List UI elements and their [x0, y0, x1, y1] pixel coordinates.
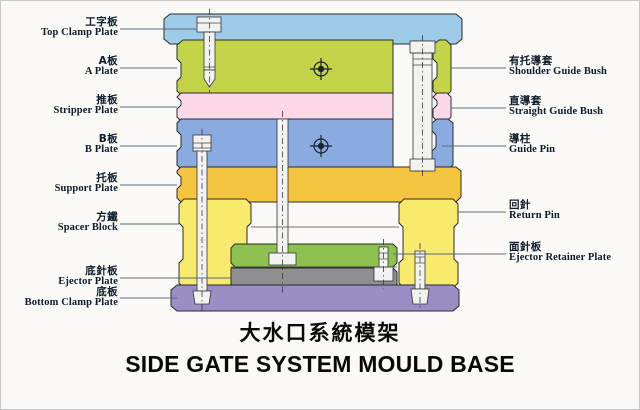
label-en: Support Plate	[1, 184, 118, 195]
label-a-plate: A板 A Plate	[1, 56, 118, 77]
label-b-plate: B板 B Plate	[1, 134, 118, 155]
label-ejector-plate: 底針板 Ejector Plate	[1, 266, 118, 287]
label-en: Return Pin	[509, 211, 560, 222]
label-en: B Plate	[1, 145, 118, 156]
label-en: Shoulder Guide Bush	[509, 67, 607, 78]
label-spacer-block: 方鐵 Spacer Block	[1, 212, 118, 233]
label-en: Top Clamp Plate	[1, 28, 118, 39]
label-en: Ejector Retainer Plate	[509, 253, 611, 264]
label-return-pin: 回針 Return Pin	[509, 200, 560, 221]
label-straight-guide-bush: 直導套 Straight Guide Bush	[509, 96, 603, 117]
title-english: SIDE GATE SYSTEM MOULD BASE	[1, 351, 639, 378]
label-shoulder-guide-bush: 有托導套 Shoulder Guide Bush	[509, 56, 607, 77]
part-stripper-plate	[177, 93, 393, 121]
label-ejector-retainer-plate: 面針板 Ejector Retainer Plate	[509, 242, 611, 263]
label-guide-pin: 導柱 Guide Pin	[509, 134, 555, 155]
label-en: A Plate	[1, 67, 118, 78]
part-spacer-block-right	[399, 199, 458, 288]
part-ejector-retainer-plate	[231, 244, 397, 267]
title-block: 大水口系統模架 SIDE GATE SYSTEM MOULD BASE	[1, 317, 639, 378]
part-support-plate	[177, 167, 461, 202]
label-en: Straight Guide Bush	[509, 107, 603, 118]
label-en: Guide Pin	[509, 145, 555, 156]
label-en: Spacer Block	[1, 223, 118, 234]
label-stripper-plate: 推板 Stripper Plate	[1, 95, 118, 116]
cap-screw-top-head	[197, 17, 221, 32]
label-en: Bottom Clamp Plate	[1, 298, 118, 309]
label-support-plate: 托板 Support Plate	[1, 173, 118, 194]
part-a-plate-right	[433, 40, 451, 96]
label-bottom-clamp-plate: 底板 Bottom Clamp Plate	[1, 287, 118, 308]
label-top-clamp-plate: 工字板 Top Clamp Plate	[1, 17, 118, 38]
diagram-page: .ol{stroke:#2b2b2b;stroke-width:1;} .thi…	[0, 0, 640, 410]
label-en: Stripper Plate	[1, 106, 118, 117]
part-straight-guide-bush	[433, 93, 451, 121]
title-chinese: 大水口系統模架	[1, 317, 639, 347]
